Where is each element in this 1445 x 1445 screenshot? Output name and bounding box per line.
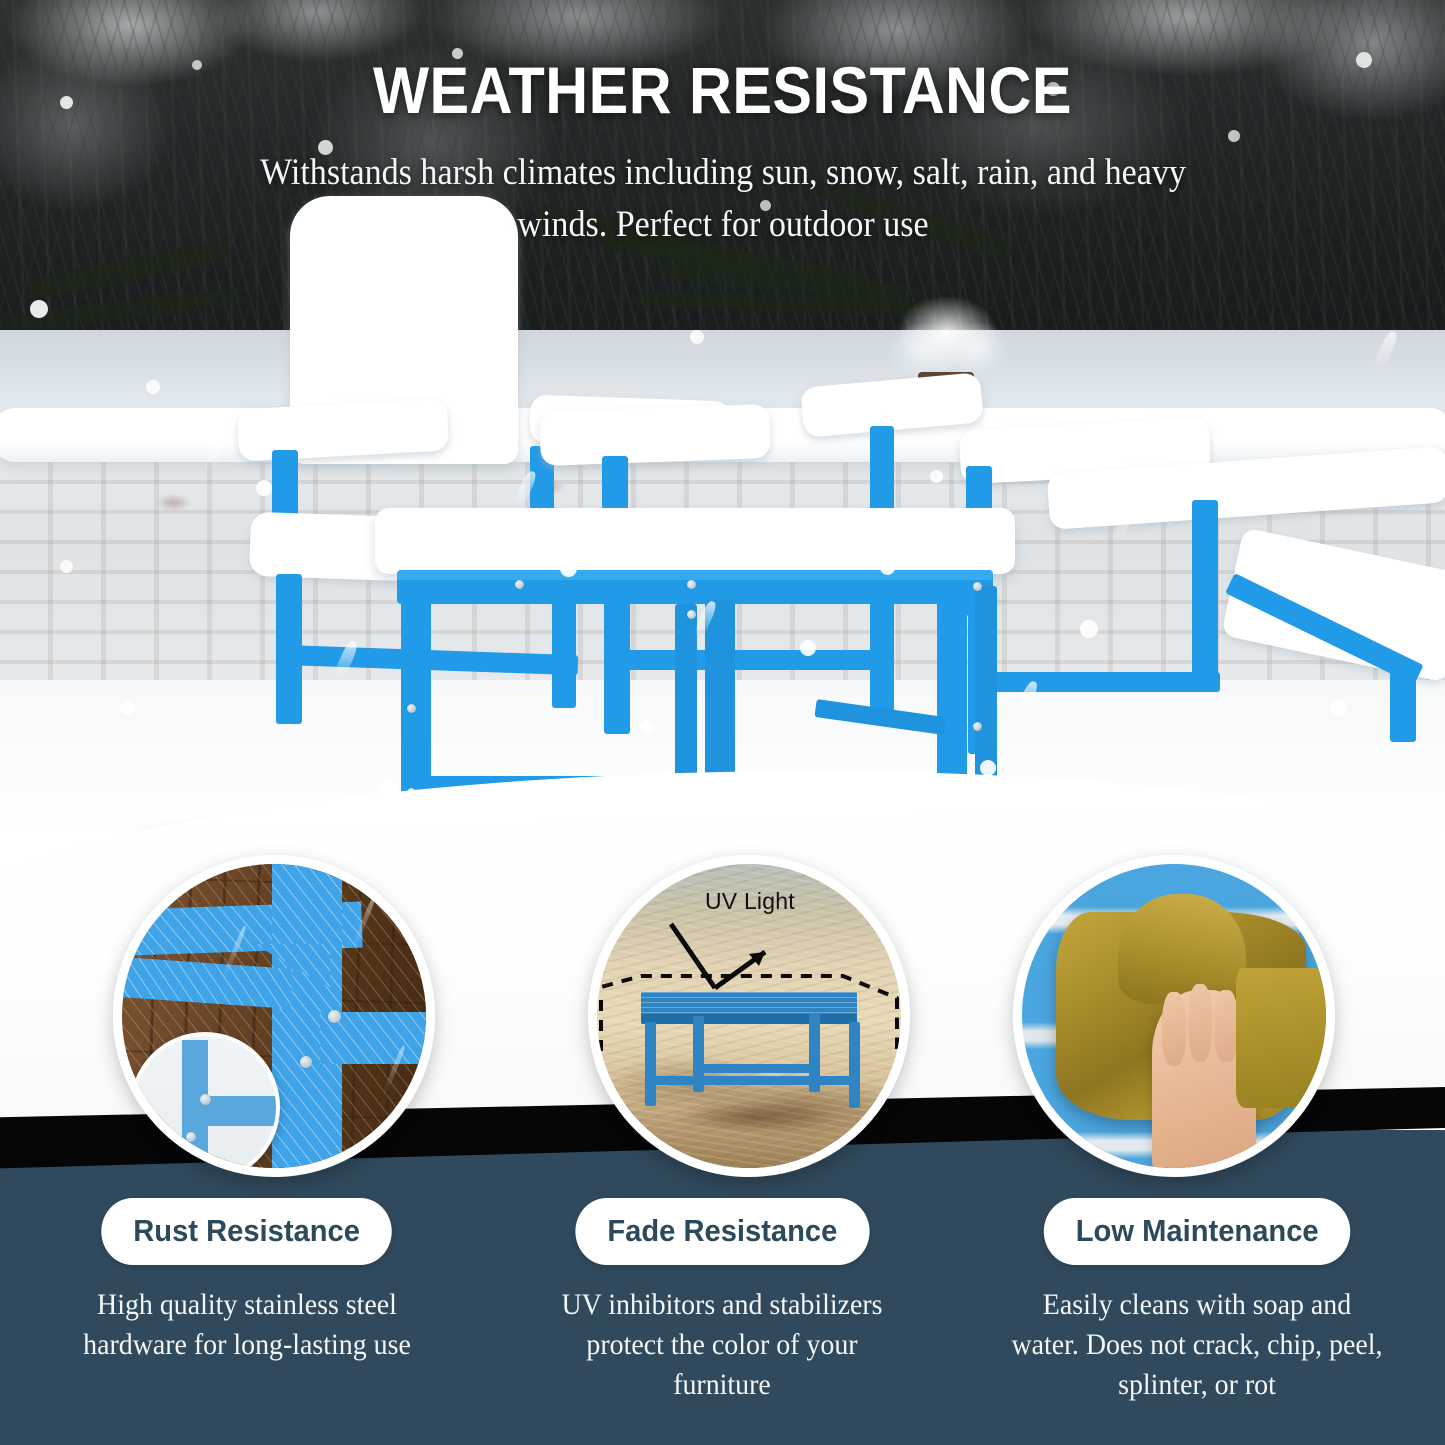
table-top-edge [641,1014,857,1024]
page-subtitle: Withstands harsh climates including sun,… [235,147,1210,252]
table-stretcher [645,1076,860,1085]
finger [1214,990,1238,1062]
status-badge: Fade Resistance [575,1198,869,1265]
feature-list: Rust Resistance High quality stainless s… [0,1198,1445,1445]
feature-image-fade-resistance: UV Light [588,855,910,1177]
feature-description: Easily cleans with soap and water. Does … [1011,1285,1383,1405]
feature-image-rust-resistance [113,855,435,1177]
feature-image-low-maintenance [1013,855,1335,1177]
finger [1162,992,1186,1066]
screw-icon [186,1132,196,1142]
table-stretcher [693,1064,813,1073]
furniture-rail [200,1096,280,1126]
feature-description: High quality stainless steel hardware fo… [61,1285,433,1365]
header: WEATHER RESISTANCE Withstands harsh clim… [0,0,1445,252]
page-title: WEATHER RESISTANCE [72,56,1373,125]
finger [1188,984,1212,1062]
table-shadow [639,1096,869,1138]
feature-fade-resistance: Fade Resistance UV inhibitors and stabil… [487,1198,957,1405]
feature-description: UV inhibitors and stabilizers protect th… [536,1285,908,1405]
microfiber-cloth-fold [1118,894,1246,1004]
status-badge: Low Maintenance [1044,1198,1351,1265]
uv-light-label: UV Light [705,888,795,915]
feature-rust-resistance: Rust Resistance High quality stainless s… [12,1198,482,1365]
screw-icon [200,1094,211,1105]
feature-low-maintenance: Low Maintenance Easily cleans with soap … [962,1198,1432,1405]
table-leg [645,1022,656,1106]
screw-icon [328,1010,341,1023]
status-badge: Rust Resistance [102,1198,393,1265]
table-leg [849,1022,860,1108]
infographic-root: WEATHER RESISTANCE Withstands harsh clim… [0,0,1445,1445]
magnifier-inset [130,1032,280,1177]
screw-icon [300,1056,312,1068]
cloth-corner [1236,968,1332,1108]
